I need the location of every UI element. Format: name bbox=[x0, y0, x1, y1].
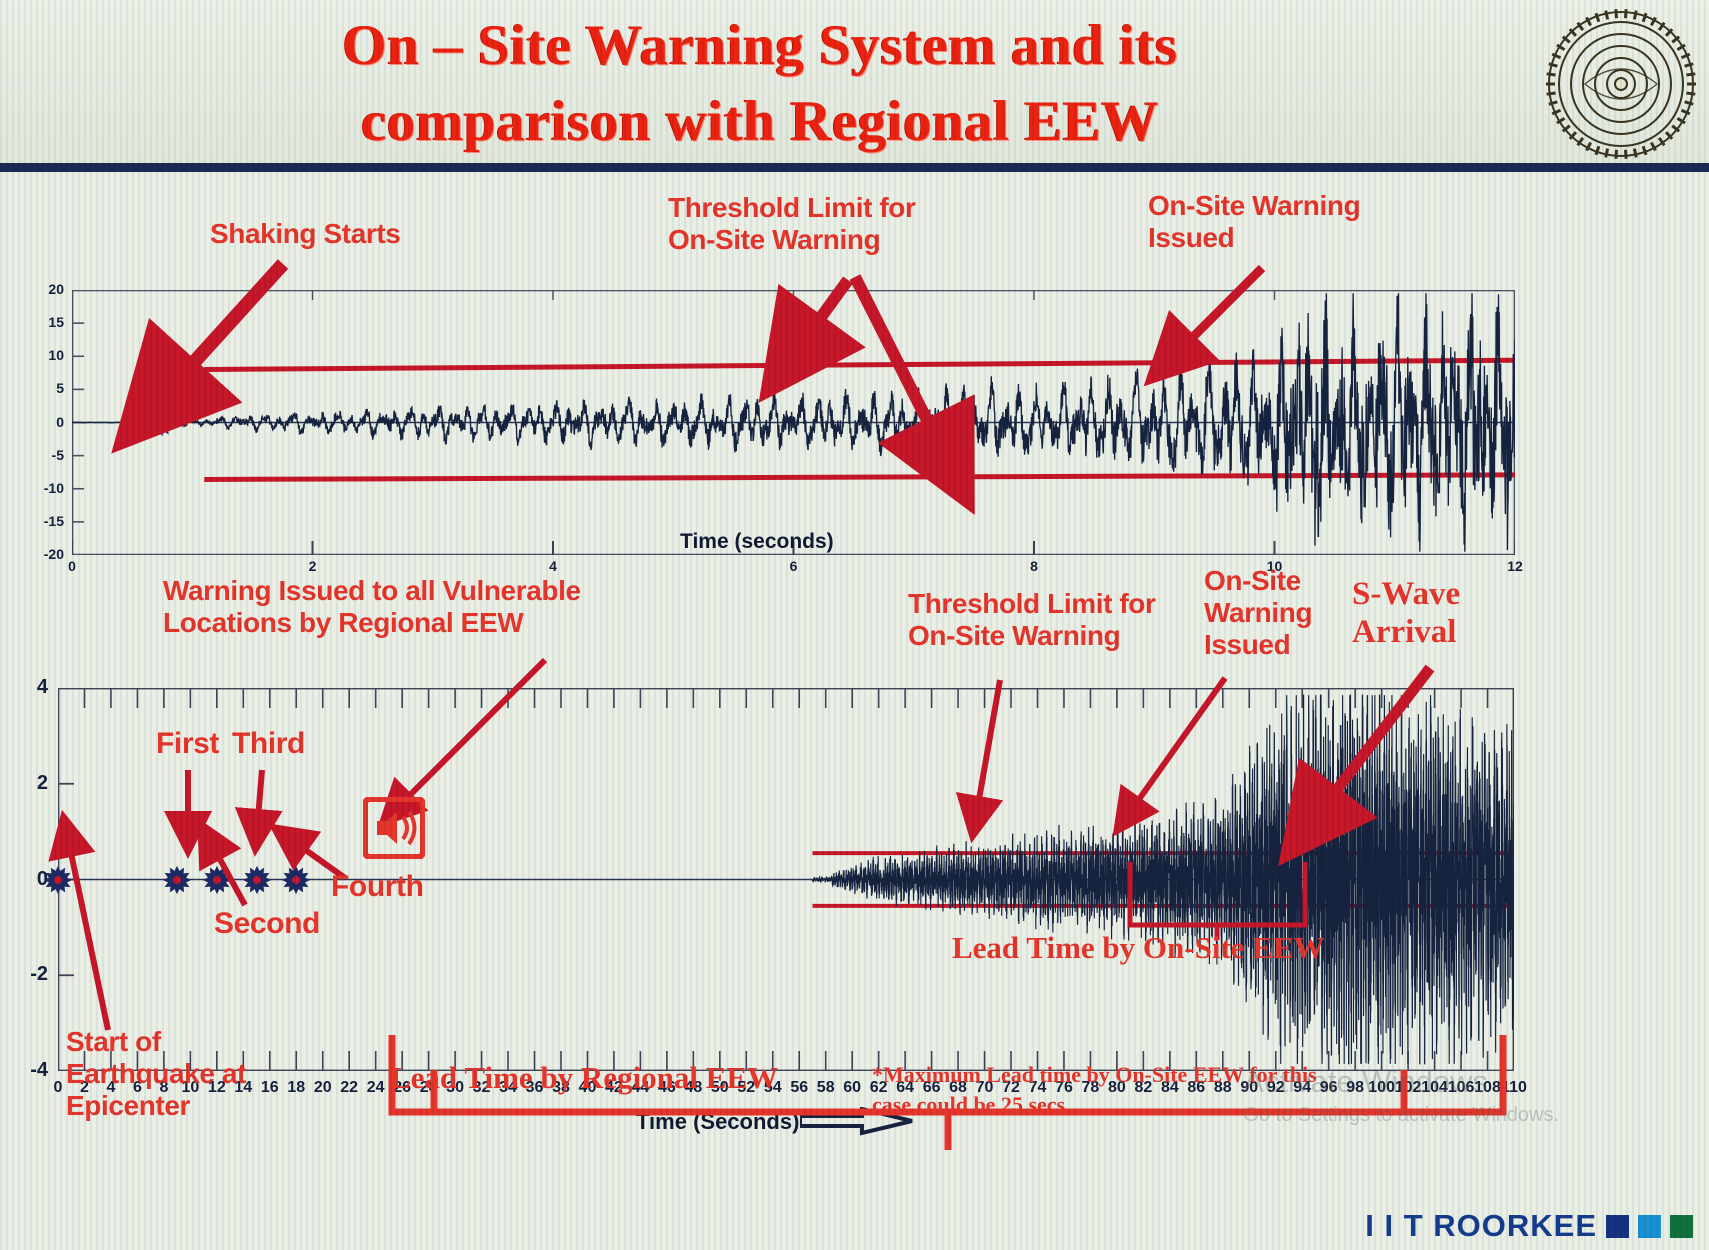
regional-warning-broadcast-icon bbox=[363, 797, 425, 859]
station-trigger-marker bbox=[162, 865, 192, 895]
chart2-x-tick: 24 bbox=[362, 1079, 390, 1097]
chart2-y-tick: -4 bbox=[8, 1059, 48, 1082]
annotation-warning-issued-chart2: On-Site Warning Issued bbox=[1204, 565, 1344, 661]
station-trigger-marker bbox=[202, 865, 232, 895]
watermark-line1: Activate Windows bbox=[1243, 1062, 1559, 1102]
chart2-y-tick: 0 bbox=[8, 868, 48, 891]
annotation-first: First bbox=[156, 727, 219, 761]
brand-footer: I I T ROORKEE bbox=[1365, 1208, 1693, 1244]
annotation-start-of-earthquake: Start of Earthquake at Epicenter bbox=[66, 1026, 306, 1122]
chart2-x-tick: 60 bbox=[838, 1079, 866, 1097]
chart2-x-tick: 56 bbox=[785, 1079, 813, 1097]
slide-header: On – Site Warning System and itscomparis… bbox=[0, 0, 1709, 172]
chart1-y-tick: 5 bbox=[22, 380, 64, 396]
station-trigger-marker bbox=[43, 865, 73, 895]
slide-canvas: On – Site Warning System and itscomparis… bbox=[0, 0, 1709, 1250]
annotation-threshold-limit-chart1: Threshold Limit for On-Site Warning bbox=[668, 192, 998, 256]
annotation-second: Second bbox=[214, 907, 320, 941]
annotation-fourth: Fourth bbox=[331, 870, 424, 904]
annotation-third: Third bbox=[232, 727, 305, 761]
chart-onsite-record bbox=[72, 290, 1515, 555]
chart1-y-tick: 15 bbox=[22, 314, 64, 330]
chart2-x-tick: 22 bbox=[335, 1079, 363, 1097]
chart1-y-tick: -15 bbox=[22, 513, 64, 529]
brand-square-2 bbox=[1638, 1215, 1661, 1238]
chart2-y-tick: 4 bbox=[8, 676, 48, 699]
annotation-warning-issued-chart1: On-Site Warning Issued bbox=[1148, 190, 1448, 254]
brand-square-3 bbox=[1670, 1215, 1693, 1238]
chart1-x-tick: 6 bbox=[778, 558, 810, 574]
chart1-x-tick: 0 bbox=[56, 558, 88, 574]
chart2-x-tick: 58 bbox=[812, 1079, 840, 1097]
chart1-y-tick: 20 bbox=[22, 281, 64, 297]
annotation-lead-time-onsite: Lead Time by On-Site EEW bbox=[952, 930, 1325, 965]
chart1-x-tick: 2 bbox=[297, 558, 329, 574]
chart1-y-tick: 10 bbox=[22, 347, 64, 363]
chart1-y-tick: -10 bbox=[22, 480, 64, 496]
annotation-lead-time-regional: Lead Time by Regional EEW bbox=[390, 1060, 778, 1095]
chart2-x-tick: 20 bbox=[309, 1079, 337, 1097]
chart1-x-tick: 4 bbox=[537, 558, 569, 574]
annotation-threshold-limit-chart2: Threshold Limit for On-Site Warning bbox=[908, 588, 1198, 652]
chart1-y-tick: 0 bbox=[22, 414, 64, 430]
chart1-x-tick: 8 bbox=[1018, 558, 1050, 574]
watermark-line2: Go to Settings to activate Windows. bbox=[1243, 1102, 1559, 1128]
station-trigger-marker bbox=[242, 865, 272, 895]
chart1-x-tick: 12 bbox=[1499, 558, 1531, 574]
shaking-start-marker bbox=[148, 409, 176, 437]
chart1-x-axis-label: Time (seconds) bbox=[680, 530, 834, 554]
windows-activation-watermark: Activate Windows Go to Settings to activ… bbox=[1243, 1062, 1559, 1128]
page-title: On – Site Warning System and itscomparis… bbox=[130, 8, 1390, 161]
chart2-y-tick: 2 bbox=[8, 772, 48, 795]
iit-roorkee-seal bbox=[1545, 8, 1697, 160]
annotation-s-wave-arrival: S-Wave Arrival bbox=[1352, 576, 1512, 651]
brand-label: I I T ROORKEE bbox=[1365, 1208, 1597, 1244]
annotation-regional-warning: Warning Issued to all Vulnerable Locatio… bbox=[163, 575, 683, 639]
annotation-shaking-starts: Shaking Starts bbox=[210, 218, 480, 250]
brand-square-1 bbox=[1606, 1215, 1629, 1238]
chart2-y-tick: -2 bbox=[8, 963, 48, 986]
chart1-y-tick: -5 bbox=[22, 447, 64, 463]
chart2-x-axis-label: Time (Seconds) bbox=[636, 1109, 799, 1135]
station-trigger-marker bbox=[281, 865, 311, 895]
